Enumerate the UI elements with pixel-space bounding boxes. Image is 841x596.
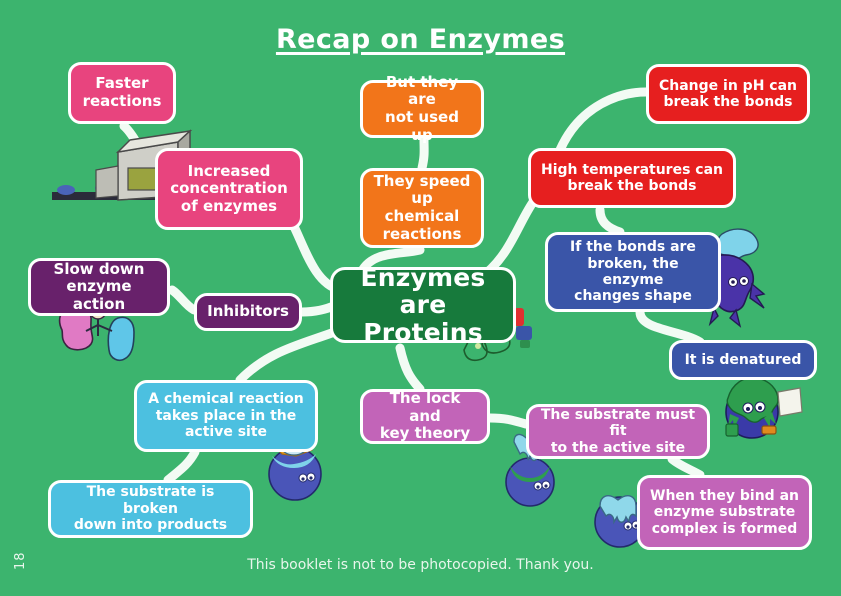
page-title: Recap on Enzymes — [0, 24, 841, 55]
page-number: 18 — [13, 551, 28, 570]
node-but-they-are-not-used-up[interactable]: But they are not used up — [360, 80, 484, 138]
node-a-chemical-reaction-takes-place-in-the-active-site[interactable]: A chemical reaction takes place in the a… — [134, 380, 318, 452]
node-high-temperatures-can-break-the-bonds[interactable]: High temperatures can break the bonds — [528, 148, 736, 208]
node-faster-reactions[interactable]: Faster reactions — [68, 62, 176, 124]
node-change-in-ph-can-break-the-bonds[interactable]: Change in pH can break the bonds — [646, 64, 810, 124]
node-if-the-bonds-are-broken-the-enzyme-changes-shape[interactable]: If the bonds are broken, the enzyme chan… — [545, 232, 721, 312]
node-slow-down-enzyme-action[interactable]: Slow down enzyme action — [28, 258, 170, 316]
node-increased-concentration-of-enzymes[interactable]: Increased concentration of enzymes — [155, 148, 303, 230]
center-node-enzymes-are-proteins[interactable]: Enzymes are Proteins — [330, 267, 516, 343]
node-they-speed-up-chemical-reactions[interactable]: They speed up chemical reactions — [360, 168, 484, 248]
node-the-substrate-must-fit-to-the-active-site[interactable]: The substrate must fit to the active sit… — [526, 404, 710, 459]
node-it-is-denatured[interactable]: It is denatured — [669, 340, 817, 380]
footer-copyright-note: This booklet is not to be photocopied. T… — [0, 557, 841, 573]
node-the-lock-and-key-theory[interactable]: The lock and key theory — [360, 389, 490, 444]
mindmap-page: Recap on Enzymes Faster reactionsIncreas… — [0, 0, 841, 596]
node-inhibitors[interactable]: Inhibitors — [194, 293, 302, 331]
node-the-substrate-is-broken-down-into-products[interactable]: The substrate is broken down into produc… — [48, 480, 253, 538]
node-when-they-bind-an-enzyme-substrate-complex-is-formed[interactable]: When they bind an enzyme substrate compl… — [637, 475, 812, 550]
